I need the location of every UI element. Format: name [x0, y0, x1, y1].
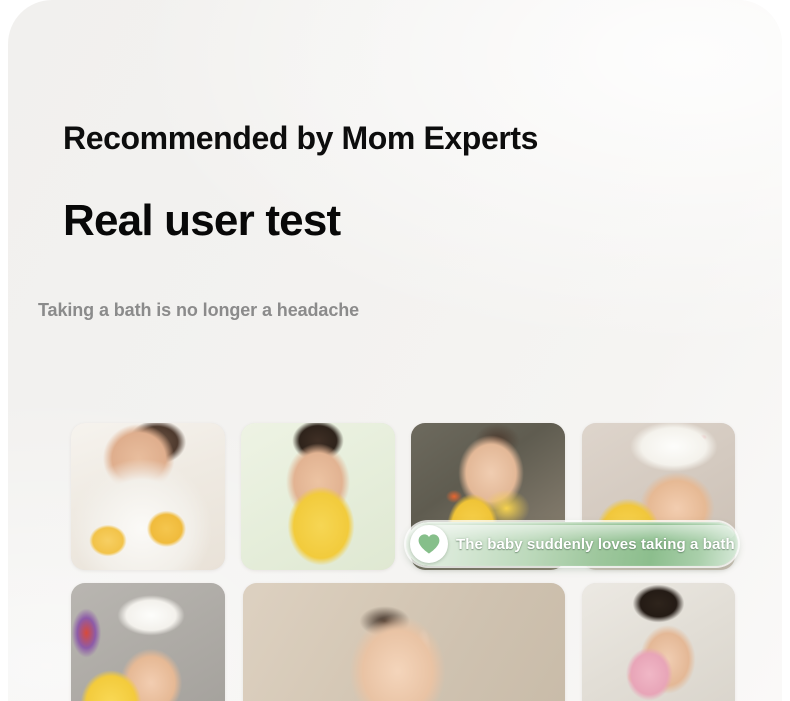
photo-image	[71, 423, 225, 570]
gallery-photo[interactable]	[243, 583, 565, 701]
gallery-photo[interactable]	[582, 583, 735, 701]
heart-icon	[410, 525, 448, 563]
photo-image	[243, 583, 565, 701]
gallery-photo[interactable]	[71, 583, 225, 701]
screenshot-root: Recommended by Mom Experts Real user tes…	[0, 0, 790, 701]
caption-text: The baby suddenly loves taking a bath	[448, 536, 749, 553]
caption-badge[interactable]: The baby suddenly loves taking a bath	[406, 522, 738, 566]
gallery-photo[interactable]	[71, 423, 225, 570]
gallery-photo[interactable]	[241, 423, 395, 570]
photo-image	[582, 583, 735, 701]
photo-image	[71, 583, 225, 701]
photo-image	[241, 423, 395, 570]
panel-content: Recommended by Mom Experts Real user tes…	[8, 0, 782, 701]
photo-gallery	[8, 0, 782, 701]
content-panel: Recommended by Mom Experts Real user tes…	[8, 0, 782, 701]
